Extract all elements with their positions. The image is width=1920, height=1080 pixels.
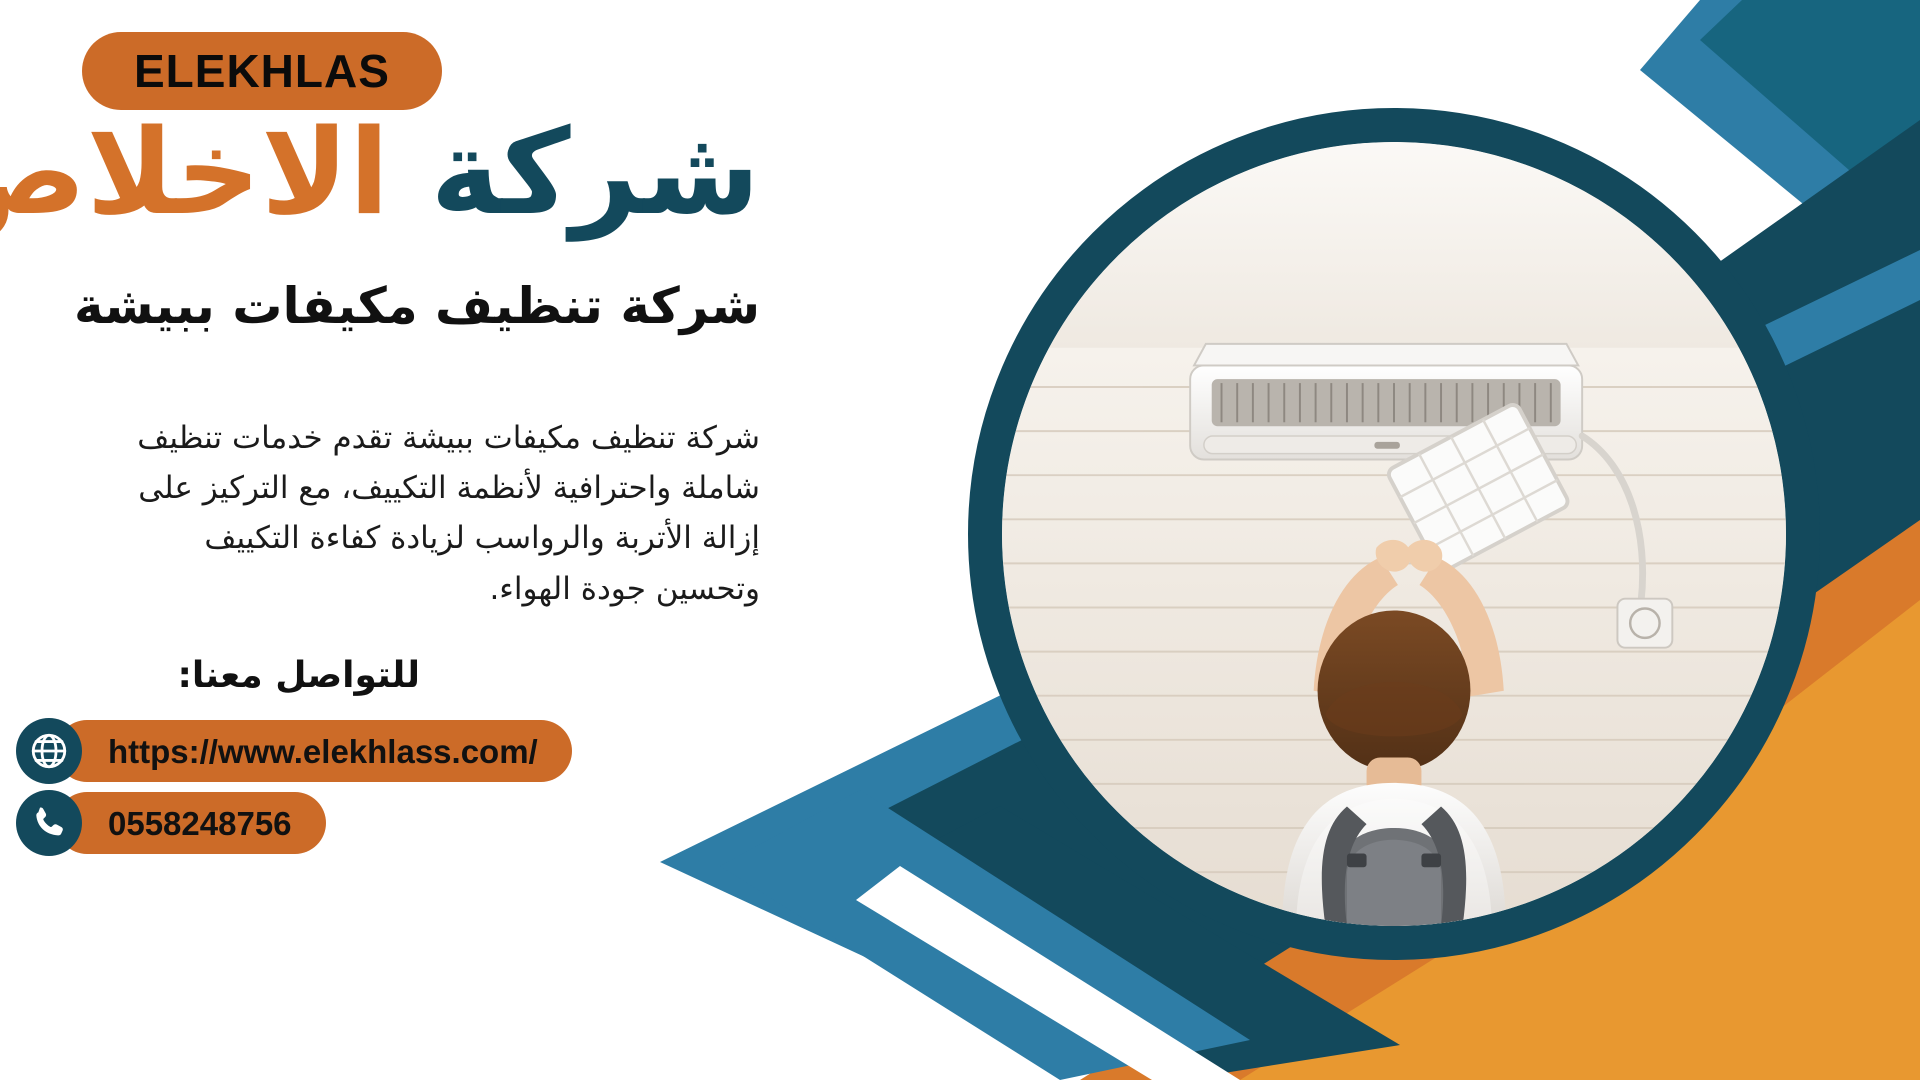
website-url: https://www.elekhlass.com/ xyxy=(108,735,538,768)
page-subtitle: شركة تنظيف مكيفات ببيشة xyxy=(0,278,760,336)
brand-label: ELEKHLAS xyxy=(134,48,390,94)
page-title: شركة الاخلاص xyxy=(0,112,760,232)
website-pill[interactable]: https://www.elekhlass.com/ xyxy=(56,720,572,782)
phone-pill[interactable]: 0558248756 xyxy=(56,792,326,854)
description-paragraph: شركة تنظيف مكيفات ببيشة تقدم خدمات تنظيف… xyxy=(120,413,760,614)
contact-heading: للتواصل معنا: xyxy=(178,655,421,696)
contact-website-row[interactable]: https://www.elekhlass.com/ xyxy=(16,718,572,784)
feature-photo xyxy=(1002,142,1786,926)
phone-icon xyxy=(16,790,82,856)
brand-pill[interactable]: ELEKHLAS xyxy=(82,32,442,110)
promo-banner: ELEKHLAS شركة الاخلاص شركة تنظيف مكيفات … xyxy=(0,0,1920,1080)
contact-phone-row[interactable]: 0558248756 xyxy=(16,790,326,856)
title-word-brand: الاخلاص xyxy=(0,103,389,241)
title-word-company: شركة xyxy=(430,103,760,241)
globe-icon xyxy=(16,718,82,784)
phone-number: 0558248756 xyxy=(108,807,292,840)
feature-photo-circle xyxy=(968,108,1820,960)
